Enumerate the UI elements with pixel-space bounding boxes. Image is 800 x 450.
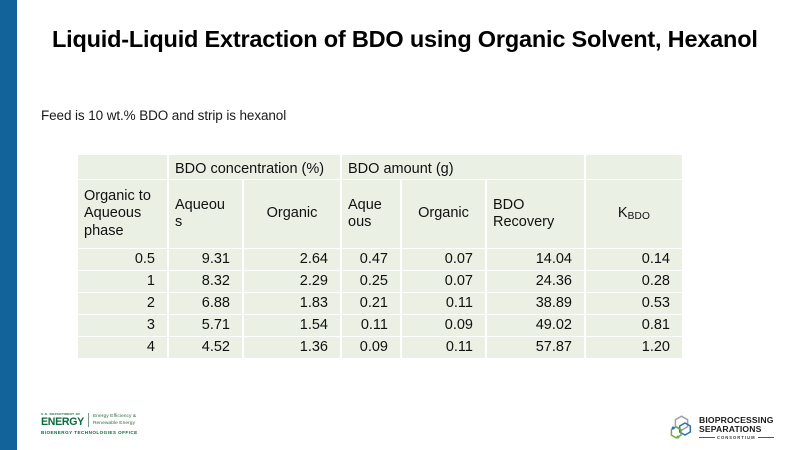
doe-logo: U.S. DEPARTMENT OF ENERGY Energy Efficie… [41,413,231,443]
cell-organic-concentration: 2.29 [243,271,341,293]
bsc-rule-left [699,437,715,438]
table-row: 2 6.88 1.83 0.21 0.11 38.89 0.53 [78,293,682,315]
column-header-aqueous-amount: Aque ous [341,180,401,249]
cell-phase-ratio: 0.5 [78,249,168,271]
column-header-k-bdo: KBDO [585,180,682,249]
hexagon-cluster-icon [669,415,695,441]
cell-aqueous-concentration: 4.52 [168,337,243,359]
cell-organic-concentration: 1.83 [243,293,341,315]
doe-energy-wordmark: ENERGY [41,417,84,428]
doe-program-label: BIOENERGY TECHNOLOGIES OFFICE [41,430,231,435]
doe-wordmark-block: U.S. DEPARTMENT OF ENERGY [41,413,84,427]
results-table: BDO concentration (%) BDO amount (g) Org… [78,155,682,358]
cell-aqueous-concentration: 9.31 [168,249,243,271]
cell-aqueous-amount: 0.21 [341,293,401,315]
group-header-blank-right [585,155,682,180]
cell-organic-amount: 0.07 [401,271,486,293]
group-header-blank-left [78,155,168,180]
doe-office-line-1: Energy Efficiency & [93,414,136,420]
bsc-rule-right [758,437,774,438]
cell-organic-amount: 0.11 [401,337,486,359]
results-table-container: BDO concentration (%) BDO amount (g) Org… [78,155,682,358]
cell-phase-ratio: 4 [78,337,168,359]
doe-logo-top: U.S. DEPARTMENT OF ENERGY Energy Efficie… [41,413,231,427]
cell-organic-concentration: 2.64 [243,249,341,271]
bsc-logo-text: BIOPROCESSING SEPARATIONS CONSORTIUM [699,416,774,441]
cell-aqueous-amount: 0.25 [341,271,401,293]
column-header-aqueous-concentration: Aqueou s [168,180,243,249]
cell-k-bdo: 1.20 [585,337,682,359]
bsc-line-consortium-wrap: CONSORTIUM [699,435,774,440]
cell-aqueous-concentration: 6.88 [168,293,243,315]
table-row: 0.5 9.31 2.64 0.47 0.07 14.04 0.14 [78,249,682,271]
column-header-organic-concentration: Organic [243,180,341,249]
cell-k-bdo: 0.53 [585,293,682,315]
bsc-line-consortium: CONSORTIUM [717,435,756,440]
cell-aqueous-concentration: 5.71 [168,315,243,337]
group-header-amount: BDO amount (g) [341,155,585,180]
column-header-organic-to-aqueous-phase: Organic to Aqueous phase [78,180,168,249]
cell-organic-amount: 0.07 [401,249,486,271]
cell-k-bdo: 0.81 [585,315,682,337]
cell-aqueous-amount: 0.09 [341,337,401,359]
cell-k-bdo: 0.28 [585,271,682,293]
cell-organic-concentration: 1.54 [243,315,341,337]
cell-organic-amount: 0.09 [401,315,486,337]
cell-bdo-recovery: 24.36 [486,271,585,293]
doe-office-block: Energy Efficiency & Renewable Energy [93,414,136,427]
table-group-header-row: BDO concentration (%) BDO amount (g) [78,155,682,180]
cell-phase-ratio: 3 [78,315,168,337]
cell-bdo-recovery: 57.87 [486,337,585,359]
cell-bdo-recovery: 38.89 [486,293,585,315]
column-header-bdo-recovery: BDO Recovery [486,180,585,249]
table-row: 3 5.71 1.54 0.11 0.09 49.02 0.81 [78,315,682,337]
cell-k-bdo: 0.14 [585,249,682,271]
slide-subtitle: Feed is 10 wt.% BDO and strip is hexanol [41,108,286,123]
table-row: 1 8.32 2.29 0.25 0.07 24.36 0.28 [78,271,682,293]
doe-office-line-2: Renewable Energy [93,421,136,427]
doe-logo-divider [88,413,89,427]
cell-aqueous-amount: 0.11 [341,315,401,337]
cell-organic-amount: 0.11 [401,293,486,315]
page-title: Liquid-Liquid Extraction of BDO using Or… [52,24,767,55]
cell-phase-ratio: 1 [78,271,168,293]
table-row: 4 4.52 1.36 0.09 0.11 57.87 1.20 [78,337,682,359]
cell-bdo-recovery: 49.02 [486,315,585,337]
table-column-header-row: Organic to Aqueous phase Aqueou s Organi… [78,180,682,249]
column-header-organic-amount: Organic [401,180,486,249]
left-accent-bar [0,0,17,450]
bioprocessing-separations-consortium-logo: BIOPROCESSING SEPARATIONS CONSORTIUM [669,412,787,444]
k-bdo-subscript: BDO [628,211,651,222]
cell-aqueous-amount: 0.47 [341,249,401,271]
cell-aqueous-concentration: 8.32 [168,271,243,293]
k-bdo-symbol: K [618,205,628,221]
cell-bdo-recovery: 14.04 [486,249,585,271]
cell-phase-ratio: 2 [78,293,168,315]
bsc-line-separations: SEPARATIONS [699,425,774,434]
group-header-concentration: BDO concentration (%) [168,155,341,180]
cell-organic-concentration: 1.36 [243,337,341,359]
